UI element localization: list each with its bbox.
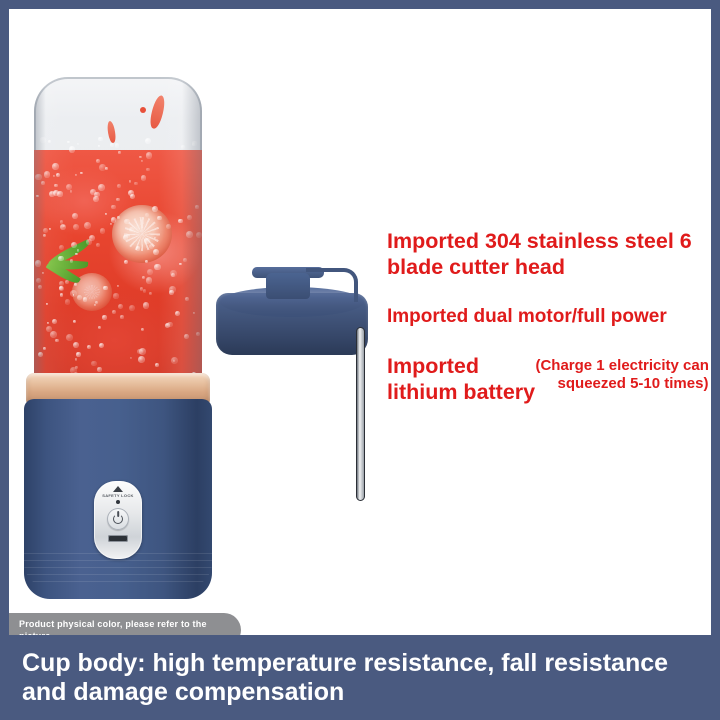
feature-battery-text: Imported lithium battery [387, 353, 555, 405]
led-indicator-icon [116, 500, 120, 504]
tomato-slice [112, 205, 172, 263]
juice-droplet-icon [148, 94, 167, 130]
green-leaf [48, 245, 100, 285]
power-icon [113, 514, 123, 524]
lid-handle [306, 268, 358, 302]
product-cup-assembly[interactable]: SAFETY LOCK [24, 77, 214, 602]
lid-spout [266, 273, 310, 299]
juice-droplet-icon [106, 121, 116, 144]
feature-blade-text: Imported 304 stainless steel 6 blade cut… [387, 228, 703, 280]
control-panel[interactable]: SAFETY LOCK [94, 481, 142, 559]
feature-charge-note-text: (Charge 1 electricity can be squeezed 5-… [533, 357, 711, 394]
juice-droplet-icon [140, 107, 146, 113]
product-poster: SAFETY LOCK Imported 304 stainless steel… [0, 0, 720, 720]
blender-jar [34, 77, 202, 382]
carrying-strap [356, 327, 365, 501]
bottom-banner: Cup body: high temperature resistance, f… [0, 635, 720, 720]
disclaimer-pill: Product physical color, please refer to … [9, 613, 241, 635]
disclaimer-text: Product physical color, please refer to … [19, 618, 225, 635]
up-arrow-icon [113, 486, 123, 492]
poster-canvas: SAFETY LOCK Imported 304 stainless steel… [9, 9, 711, 635]
usb-port-icon [108, 535, 128, 542]
safety-lock-label: SAFETY LOCK [102, 493, 133, 498]
product-lid-assembly[interactable] [214, 261, 389, 501]
power-button[interactable] [107, 508, 129, 530]
bottom-banner-text: Cup body: high temperature resistance, f… [0, 649, 720, 707]
feature-motor-text: Imported dual motor/full power [387, 305, 703, 328]
